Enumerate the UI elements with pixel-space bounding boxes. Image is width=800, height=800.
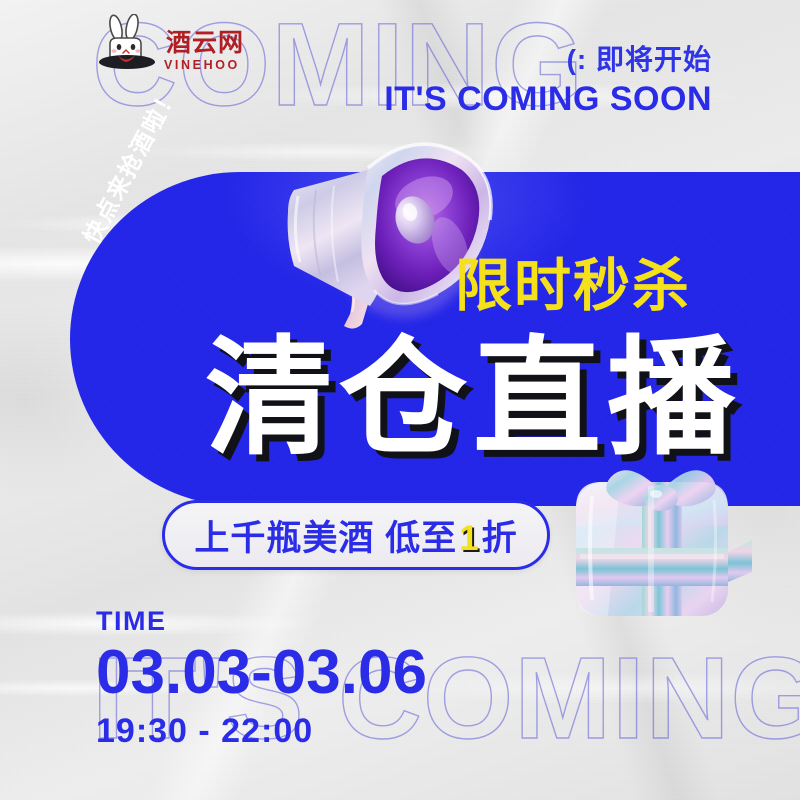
brand-logo[interactable]: 酒云网 VINEHOO bbox=[96, 14, 246, 76]
offer-prefix: 上千瓶美酒 低至 bbox=[194, 510, 457, 561]
schedule-hours: 19:30 - 22:00 bbox=[96, 714, 427, 748]
brand-name-cn: 酒云网 bbox=[164, 30, 246, 57]
offer-suffix: 折 bbox=[482, 510, 518, 561]
schedule-label: TIME bbox=[96, 608, 427, 635]
offer-pill[interactable]: 上千瓶美酒 低至 1 折 bbox=[162, 500, 550, 570]
status-en: IT'S COMING SOON bbox=[384, 80, 712, 119]
rabbit-icon bbox=[96, 14, 158, 76]
header-status-block: (: 即将开始 IT'S COMING SOON bbox=[384, 44, 712, 119]
brand-wordmark: 酒云网 VINEHOO bbox=[164, 30, 246, 72]
sub-headline: 限时秒杀 bbox=[455, 258, 691, 315]
schedule-date-range: 03.03-03.06 bbox=[96, 641, 427, 704]
main-headline: 清仓直播 bbox=[205, 330, 741, 468]
offer-pill-text: 上千瓶美酒 低至 1 折 bbox=[194, 510, 517, 561]
promo-poster: COMING IT'S COMING 快点来抢酒啦！ bbox=[0, 0, 800, 800]
schedule-block: TIME 03.03-03.06 19:30 - 22:00 bbox=[96, 608, 427, 748]
brand-name-en: VINEHOO bbox=[164, 59, 240, 72]
status-cn: (: 即将开始 bbox=[384, 44, 712, 76]
gift-box-icon bbox=[562, 452, 754, 634]
offer-highlight: 1 bbox=[457, 519, 481, 559]
